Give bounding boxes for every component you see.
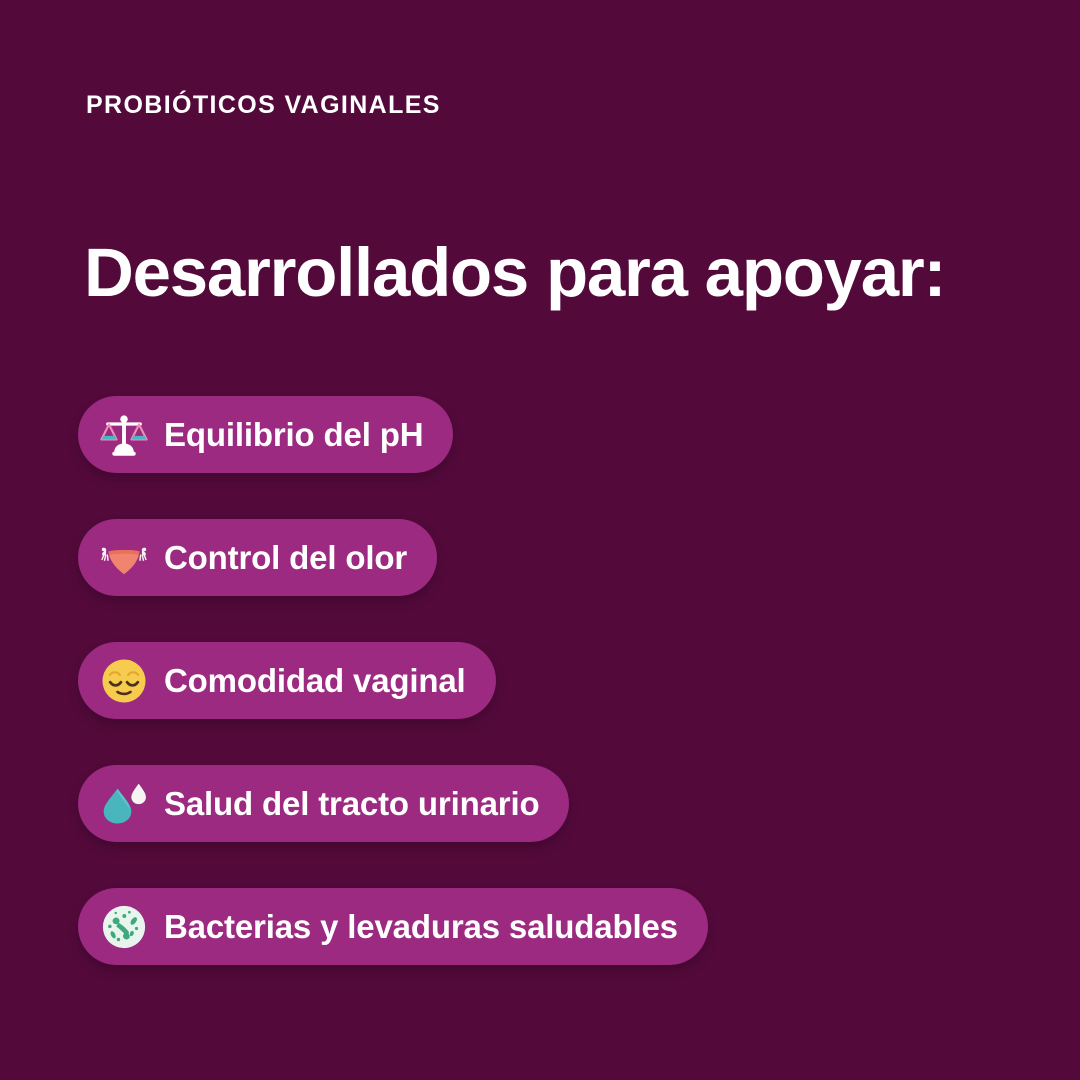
list-item[interactable]: Comodidad vaginal: [78, 642, 496, 719]
page-title: Desarrollados para apoyar:: [84, 236, 945, 311]
balance-scale-icon: [98, 409, 150, 461]
eyebrow-label: PROBIÓTICOS VAGINALES: [86, 92, 441, 120]
water-drop-icon: [98, 778, 150, 830]
list-item-label: Salud del tracto urinario: [164, 787, 539, 820]
microbe-icon: [98, 901, 150, 953]
poster-canvas: PROBIÓTICOS VAGINALES Desarrollados para…: [0, 0, 1080, 1080]
list-item-label: Bacterias y levaduras saludables: [164, 910, 678, 943]
list-item-label: Comodidad vaginal: [164, 664, 466, 697]
list-item[interactable]: Bacterias y levaduras saludables: [78, 888, 708, 965]
list-item[interactable]: Equilibrio del pH: [78, 396, 453, 473]
relieved-face-icon: [98, 655, 150, 707]
list-item-label: Control del olor: [164, 541, 407, 574]
list-item[interactable]: Salud del tracto urinario: [78, 765, 569, 842]
list-item-label: Equilibrio del pH: [164, 418, 423, 451]
list-item[interactable]: Control del olor: [78, 519, 437, 596]
benefits-list: Equilibrio del pH Cont: [78, 396, 708, 965]
underwear-icon: [98, 532, 150, 584]
